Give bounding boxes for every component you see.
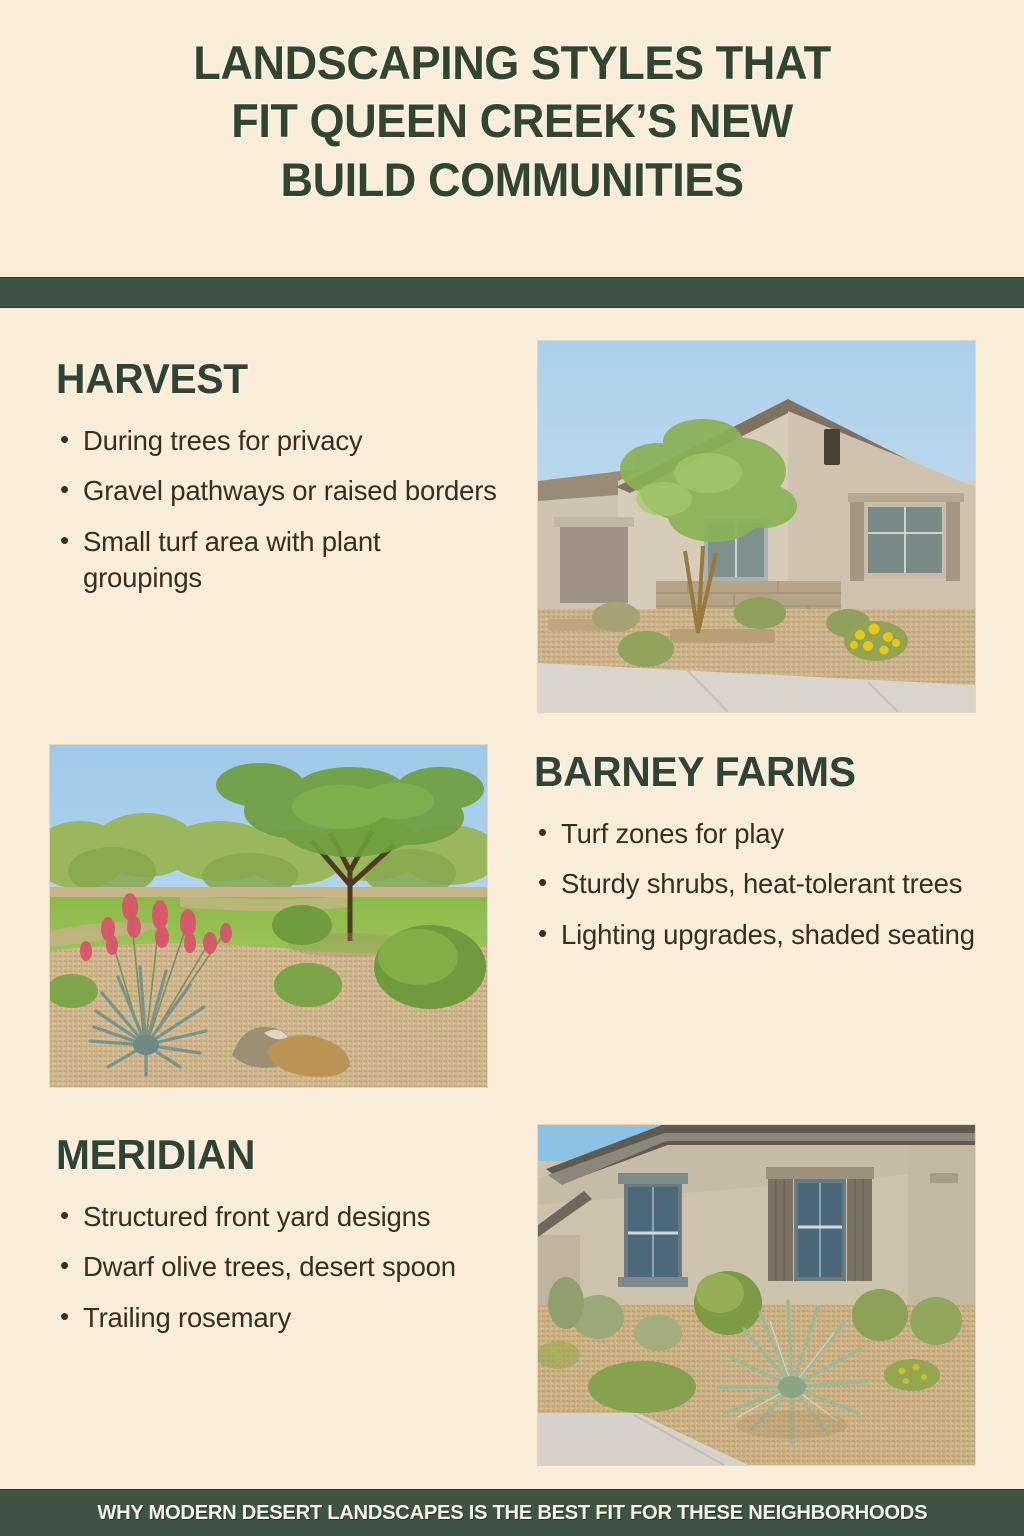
list-item: Trailing rosemary — [56, 1300, 496, 1336]
section-harvest-bullet-list: During trees for privacy Gravel pathways… — [56, 423, 506, 596]
footer-bar: WHY MODERN DESERT LANDSCAPES IS THE BEST… — [0, 1489, 1024, 1536]
section-barney-farms-bullet-list: Turf zones for play Sturdy shrubs, heat-… — [534, 816, 1004, 953]
page-title-line-1: LANDSCAPING STYLES THAT — [20, 34, 1003, 92]
list-item: Structured front yard designs — [56, 1199, 496, 1235]
photo-harvest-illustration — [538, 341, 975, 712]
photo-meridian-home — [538, 1125, 975, 1465]
section-meridian: MERIDIAN Structured front yard designs D… — [56, 1131, 496, 1350]
section-harvest-heading: HARVEST — [56, 355, 493, 403]
header-divider-bar — [0, 277, 1024, 308]
section-barney-farms-heading: BARNEY FARMS — [534, 748, 990, 796]
section-harvest: HARVEST During trees for privacy Gravel … — [56, 355, 506, 610]
section-barney-farms: BARNEY FARMS Turf zones for play Sturdy … — [534, 748, 1004, 967]
list-item: Gravel pathways or raised borders — [56, 473, 506, 509]
list-item: Lighting upgrades, shaded seating — [534, 917, 1004, 953]
page-title-line-3: BUILD COMMUNITIES — [20, 151, 1003, 209]
photo-meridian-illustration — [538, 1125, 975, 1465]
photo-barney-farms-park — [50, 745, 487, 1087]
footer-text: WHY MODERN DESERT LANDSCAPES IS THE BEST… — [97, 1501, 927, 1525]
list-item: Turf zones for play — [534, 816, 1004, 852]
photo-barney-illustration — [50, 745, 487, 1087]
list-item: Sturdy shrubs, heat-tolerant trees — [534, 866, 1004, 902]
list-item: Dwarf olive trees, desert spoon — [56, 1249, 496, 1285]
page-title: LANDSCAPING STYLES THAT FIT QUEEN CREEK’… — [0, 34, 1024, 209]
page-title-line-2: FIT QUEEN CREEK’S NEW — [20, 92, 1003, 150]
list-item: During trees for privacy — [56, 423, 506, 459]
photo-harvest-home — [538, 341, 975, 712]
section-meridian-bullet-list: Structured front yard designs Dwarf oliv… — [56, 1199, 496, 1336]
section-meridian-heading: MERIDIAN — [56, 1131, 483, 1179]
list-item: Small turf area with plant groupings — [56, 524, 506, 597]
